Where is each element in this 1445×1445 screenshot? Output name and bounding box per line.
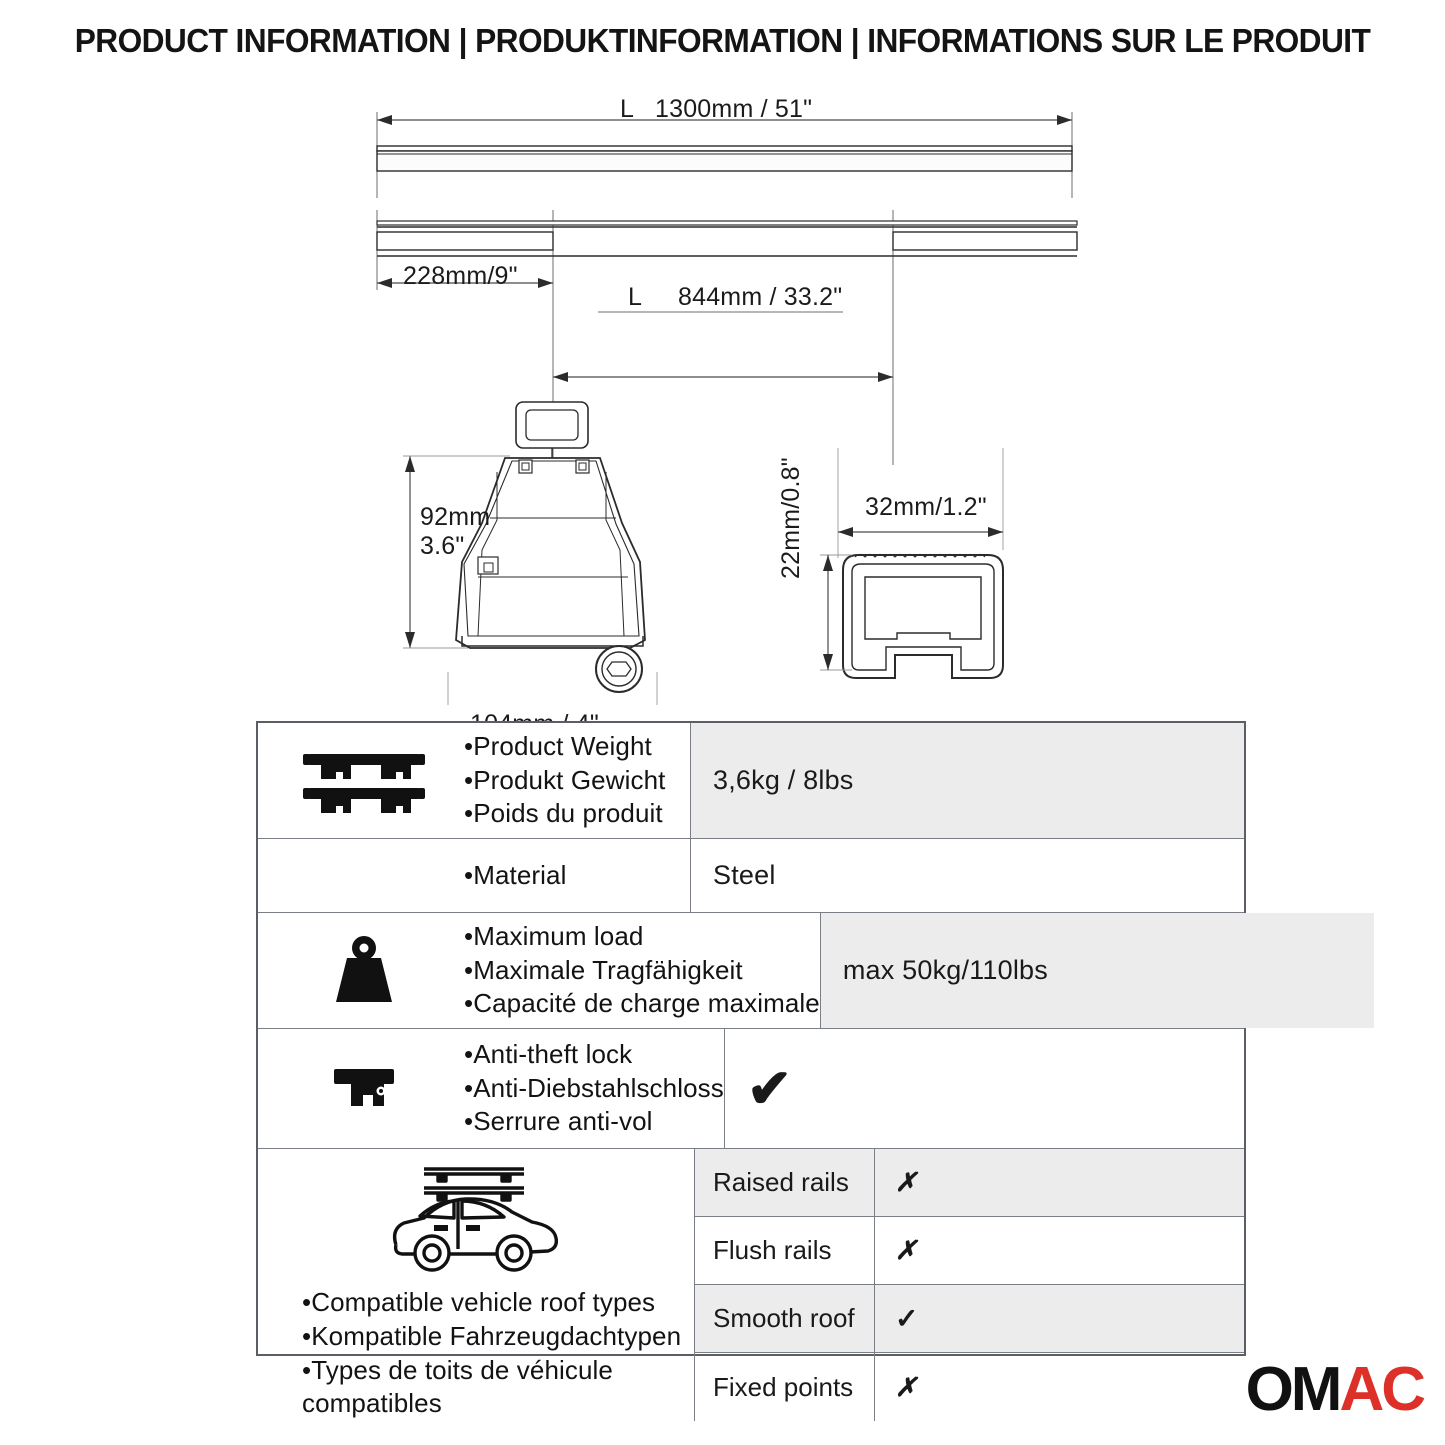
roof-types-table: Raised rails ✗ Flush rails ✗ Smooth roof… xyxy=(695,1149,1244,1421)
crossbars-icon xyxy=(264,746,464,816)
lock-value-cell: ✔ xyxy=(725,1029,1278,1148)
car-with-rack-icon xyxy=(376,1157,576,1278)
dim-bar-length-value: 1300mm / 51" xyxy=(655,95,812,124)
lock-label-cell: •Anti-theft lock •Anti-Diebstahlschloss … xyxy=(258,1029,725,1148)
load-label-de: •Maximale Tragfähigkeit xyxy=(464,954,820,988)
material-label-en: •Material xyxy=(464,859,566,893)
roof-type-name: Raised rails xyxy=(695,1149,875,1216)
roof-label-en: •Compatible vehicle roof types xyxy=(302,1286,694,1320)
table-row-material: •Material Steel xyxy=(258,839,1244,913)
load-label-cell: •Maximum load •Maximale Tragfähigkeit •C… xyxy=(258,913,821,1028)
table-row-roof-types: •Compatible vehicle roof types •Kompatib… xyxy=(258,1149,1244,1421)
roof-type-raised-rails: Raised rails ✗ xyxy=(695,1149,1244,1217)
roof-block: •Compatible vehicle roof types •Kompatib… xyxy=(258,1149,1244,1421)
weight-labels: •Product Weight •Produkt Gewicht •Poids … xyxy=(464,730,665,831)
dim-foot-offset: 228mm/9" xyxy=(403,262,518,291)
dim-bar-span-value: 844mm / 33.2" xyxy=(678,283,842,312)
dim-bar-length-prefix: L xyxy=(620,95,634,124)
table-row-weight: •Product Weight •Produkt Gewicht •Poids … xyxy=(258,723,1244,839)
lock-label-fr: •Serrure anti-vol xyxy=(464,1105,724,1139)
weight-icon xyxy=(264,934,464,1008)
material-labels: •Material xyxy=(464,859,566,893)
lock-label-de: •Anti-Diebstahlschloss xyxy=(464,1072,724,1106)
table-row-lock: •Anti-theft lock •Anti-Diebstahlschloss … xyxy=(258,1029,1244,1149)
weight-label-en: •Product Weight xyxy=(464,730,665,764)
dim-profile-height: 22mm/0.8" xyxy=(777,457,806,579)
load-value: max 50kg/110lbs xyxy=(821,913,1374,1028)
roof-type-mark: ✗ xyxy=(875,1149,1244,1216)
lock-label-en: •Anti-theft lock xyxy=(464,1038,724,1072)
lock-check-icon: ✔ xyxy=(747,1062,792,1116)
logo-text-dark: OM xyxy=(1246,1355,1340,1424)
roof-labels: •Compatible vehicle roof types •Kompatib… xyxy=(258,1286,694,1421)
roof-type-mark: ✗ xyxy=(875,1353,1244,1421)
dim-foot-height-mm: 92mm xyxy=(420,503,490,532)
roof-type-name: Fixed points xyxy=(695,1353,875,1421)
dim-profile-width: 32mm/1.2" xyxy=(865,493,987,522)
roof-type-mark: ✓ xyxy=(875,1285,1244,1352)
weight-label-cell: •Product Weight •Produkt Gewicht •Poids … xyxy=(258,723,691,838)
roof-type-mark: ✗ xyxy=(875,1217,1244,1284)
spec-table: •Product Weight •Produkt Gewicht •Poids … xyxy=(256,721,1246,1356)
technical-drawing: L 1300mm / 51" 228mm/9" L 844mm / 33.2" … xyxy=(0,80,1445,705)
load-label-fr: •Capacité de charge maximale xyxy=(464,987,820,1021)
roof-type-flush-rails: Flush rails ✗ xyxy=(695,1217,1244,1285)
roof-type-fixed-points: Fixed points ✗ xyxy=(695,1353,1244,1421)
lock-icon xyxy=(264,1059,464,1119)
roof-label-de: •Kompatible Fahrzeugdachtypen xyxy=(302,1320,694,1354)
material-label-cell: •Material xyxy=(258,839,691,912)
page-title: PRODUCT INFORMATION | PRODUKTINFORMATION… xyxy=(29,22,1416,60)
weight-label-fr: •Poids du produit xyxy=(464,797,665,831)
weight-value: 3,6kg / 8lbs xyxy=(691,723,1244,838)
omac-logo: OMAC xyxy=(1246,1359,1423,1421)
roof-label-fr: •Types de toits de véhicule compatibles xyxy=(302,1354,694,1422)
logo-text-accent: AC xyxy=(1339,1355,1423,1424)
lock-labels: •Anti-theft lock •Anti-Diebstahlschloss … xyxy=(464,1038,724,1139)
material-value: Steel xyxy=(691,839,1244,912)
roof-type-smooth-roof: Smooth roof ✓ xyxy=(695,1285,1244,1353)
load-label-en: •Maximum load xyxy=(464,920,820,954)
weight-label-de: •Produkt Gewicht xyxy=(464,764,665,798)
load-labels: •Maximum load •Maximale Tragfähigkeit •C… xyxy=(464,920,820,1021)
roof-left-cell: •Compatible vehicle roof types •Kompatib… xyxy=(258,1149,695,1421)
table-row-max-load: •Maximum load •Maximale Tragfähigkeit •C… xyxy=(258,913,1244,1029)
drawing-svg xyxy=(0,80,1445,705)
roof-type-name: Flush rails xyxy=(695,1217,875,1284)
dim-bar-span-prefix: L xyxy=(628,283,642,312)
roof-type-name: Smooth roof xyxy=(695,1285,875,1352)
dim-foot-height-in: 3.6" xyxy=(420,532,464,561)
